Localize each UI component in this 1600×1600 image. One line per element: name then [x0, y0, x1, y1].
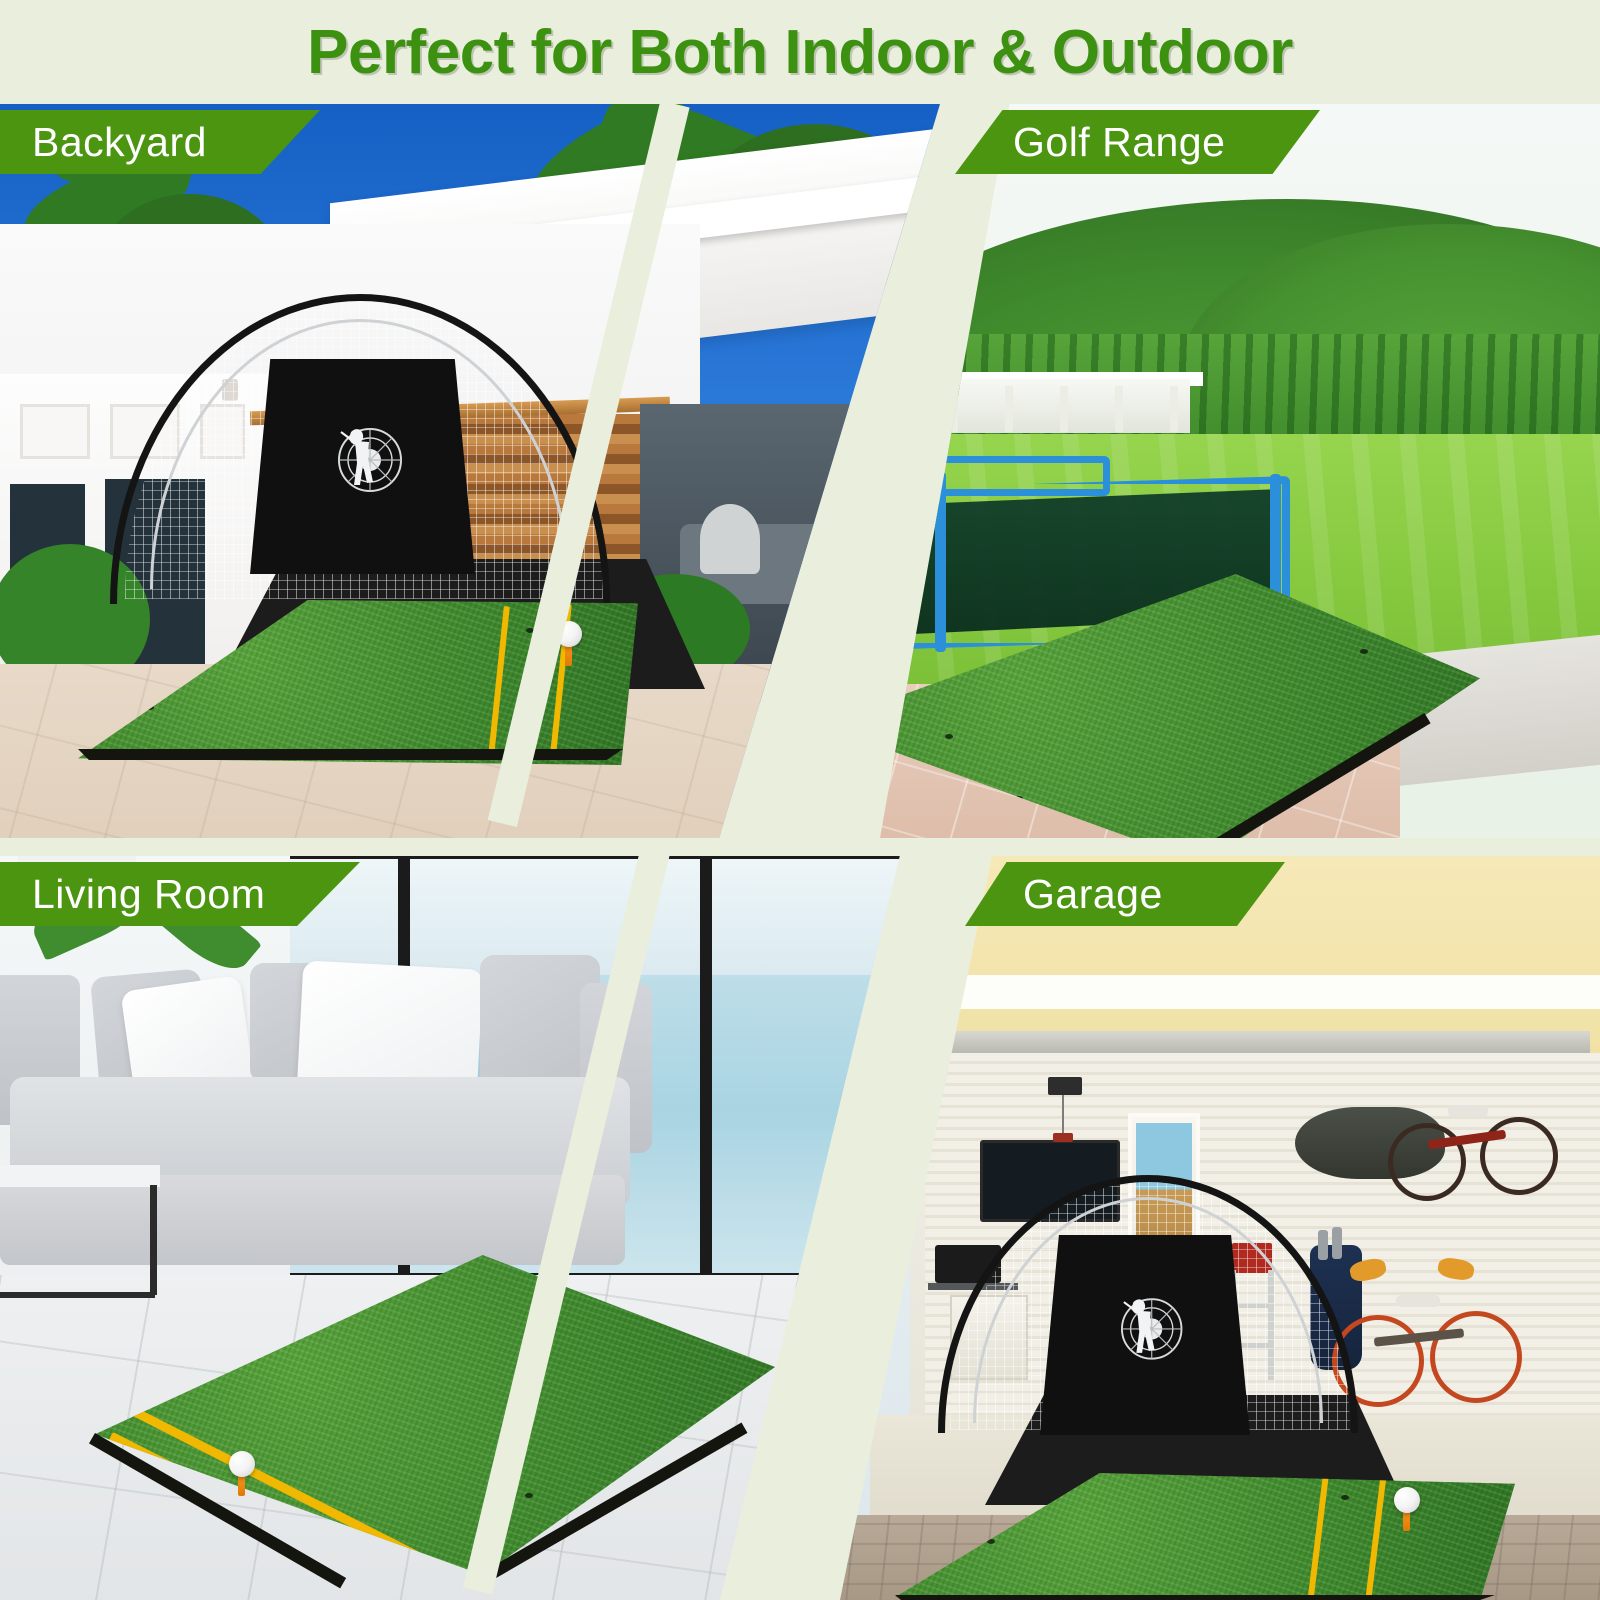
pavilion-column — [1060, 386, 1068, 432]
bicycle-wheel — [1480, 1117, 1558, 1195]
mat-edge — [78, 749, 623, 760]
ceiling-bracket — [1048, 1077, 1082, 1095]
panel-living-room[interactable] — [0, 855, 900, 1600]
pull-cord — [1062, 1095, 1064, 1135]
cord-handle — [1053, 1133, 1073, 1142]
label-golf-range: Golf Range — [955, 110, 1320, 174]
golf-ball — [229, 1451, 255, 1477]
facade-trim-accent — [860, 1013, 1600, 1029]
tee-hole — [1360, 649, 1368, 654]
label-living-room-text: Living Room — [32, 871, 265, 918]
bicycle-wheel — [1388, 1123, 1466, 1201]
label-garage: Garage — [965, 862, 1285, 926]
sofa-base — [0, 1175, 625, 1265]
panel-divider-horizontal — [0, 838, 1600, 856]
label-garage-text: Garage — [1023, 871, 1163, 918]
bicycle-wheel — [1430, 1311, 1522, 1403]
net-target-sheet — [1040, 1235, 1250, 1435]
tee-hole — [1341, 1495, 1349, 1500]
table-rail — [0, 1292, 155, 1298]
page-title: Perfect for Both Indoor & Outdoor — [307, 17, 1293, 88]
pavilion-column — [1005, 386, 1013, 432]
pavilion-column — [1115, 386, 1123, 432]
golf-club — [1318, 1230, 1328, 1260]
net-target-sheet — [250, 359, 475, 574]
product-feature-collage: Perfect for Both Indoor & Outdoor — [0, 0, 1600, 1600]
sculpture — [700, 504, 760, 574]
barrier-frame-top — [880, 456, 1110, 496]
tee-hole — [525, 1493, 533, 1498]
garage-door-rail — [910, 1031, 1590, 1053]
coffee-table-top — [0, 1165, 160, 1187]
barrier-post — [935, 472, 946, 652]
label-backyard-text: Backyard — [32, 119, 207, 166]
golfer-target-icon — [1097, 1279, 1193, 1375]
window-mullion — [700, 855, 712, 1285]
mat-edge — [895, 1595, 1495, 1600]
facade-trim — [860, 975, 1600, 1009]
golf-ball — [1394, 1487, 1420, 1513]
wall-panel-detail — [20, 404, 90, 459]
label-golf-range-text: Golf Range — [1013, 119, 1225, 166]
title-bar: Perfect for Both Indoor & Outdoor — [0, 0, 1600, 104]
sky-over-ocean — [290, 855, 900, 975]
golf-club — [1332, 1227, 1342, 1259]
label-living-room: Living Room — [0, 862, 360, 926]
bicycle-seat — [1396, 1295, 1440, 1307]
tee-hole — [945, 734, 953, 739]
golfer-target-icon — [313, 408, 413, 508]
bicycle-seat — [1448, 1105, 1488, 1117]
panel-golf-range[interactable] — [880, 104, 1600, 838]
table-leg — [150, 1185, 157, 1295]
pavilion-column — [950, 386, 958, 432]
panel-backyard[interactable] — [0, 104, 940, 838]
pavilion-column — [1170, 386, 1178, 432]
panel-garage[interactable] — [840, 855, 1600, 1600]
